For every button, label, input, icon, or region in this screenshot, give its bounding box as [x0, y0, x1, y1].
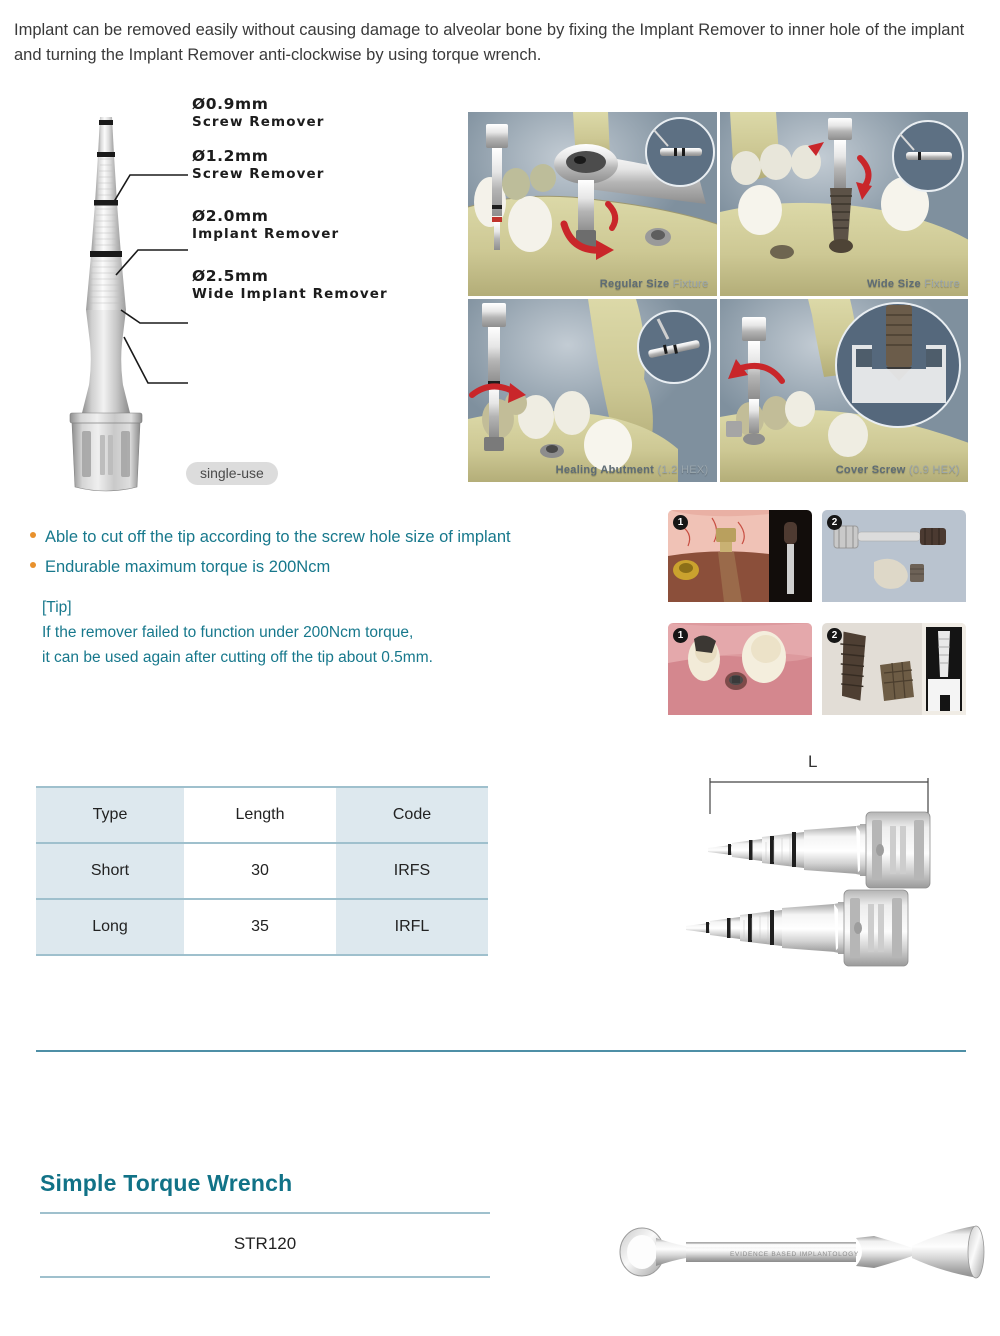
table-header-code: Code [336, 787, 488, 843]
cell-type: Short [36, 843, 184, 899]
table-header-row: Type Length Code [36, 787, 488, 843]
cover-screw-scene [720, 299, 969, 483]
table-header-type: Type [36, 787, 184, 843]
torque-wrench-illustration: EVIDENCE BASED IMPLANTOLOGY [612, 1212, 992, 1292]
regular-fixture-scene [468, 112, 717, 296]
remover-long-view [708, 812, 930, 888]
tip-line-2: it can be used again after cutting off t… [42, 645, 433, 670]
cell-code: IRFS [336, 843, 488, 899]
cell-length: 30 [184, 843, 336, 899]
intro-paragraph: Implant can be removed easily without ca… [14, 18, 974, 68]
callout-0: Ø0.9mm Screw Remover [192, 95, 325, 130]
photo-number-badge: 1 [673, 515, 688, 530]
product-dimension-figure: L [670, 752, 970, 970]
illustration-regular-size-fixture: Regular Size Fixture [468, 112, 717, 296]
tip-block: [Tip] If the remover failed to function … [42, 595, 433, 670]
callout-1: Ø1.2mm Screw Remover [192, 147, 325, 182]
wide-fixture-scene [720, 112, 969, 296]
remover-short-view [686, 890, 908, 966]
wrench-engraving-text: EVIDENCE BASED IMPLANTOLOGY [730, 1251, 859, 1258]
clinical-photo-2: 2 [822, 510, 966, 609]
cell-type: Long [36, 899, 184, 955]
illustration-caption: Wide Size Fixture [867, 278, 960, 290]
cell-code: IRFL [336, 899, 488, 955]
tip-title: [Tip] [42, 595, 433, 620]
implant-remover-diagram: Ø0.9mm Screw Remover Ø1.2mm Screw Remove… [20, 95, 450, 495]
feature-bullet: Able to cut off the tip according to the… [30, 522, 630, 552]
tip-line-1: If the remover failed to function under … [42, 620, 433, 645]
illustration-healing-abutment: Healing Abutment (1.2 HEX) [468, 299, 717, 483]
cell-length: 35 [184, 899, 336, 955]
feature-bullet: Endurable maximum torque is 200Ncm [30, 552, 630, 582]
specification-table: Type Length Code Short 30 IRFS Long 35 I… [36, 786, 488, 956]
illustration-caption: Cover Screw (0.9 HEX) [836, 464, 960, 476]
dimension-label-L: L [808, 752, 817, 772]
callout-3: Ø2.5mm Wide Implant Remover [192, 267, 388, 302]
section-title-torque-wrench: Simple Torque Wrench [40, 1170, 292, 1197]
clinical-photo-1: 1 [668, 510, 812, 609]
photo-extracted-implant [822, 623, 966, 715]
photo-surgical-site [668, 510, 812, 602]
torque-wrench-figure: EVIDENCE BASED IMPLANTOLOGY [612, 1212, 992, 1292]
healing-abutment-scene [468, 299, 717, 483]
photo-removed-parts [822, 510, 966, 602]
feature-bullet-list: Able to cut off the tip according to the… [30, 522, 630, 582]
illustration-cover-screw: Cover Screw (0.9 HEX) [720, 299, 969, 483]
bullet-dot-icon [30, 562, 36, 568]
photo-number-badge: 2 [827, 515, 842, 530]
code-rule-bottom [40, 1276, 490, 1278]
callout-2: Ø2.0mm Implant Remover [192, 207, 339, 242]
table-row: Long 35 IRFL [36, 899, 488, 955]
bullet-dot-icon [30, 532, 36, 538]
remover-side-views [670, 752, 970, 970]
photo-number-badge: 1 [673, 628, 688, 643]
table-header-length: Length [184, 787, 336, 843]
clinical-photo-3: 1 [668, 623, 812, 722]
illustration-wide-size-fixture: Wide Size Fixture [720, 112, 969, 296]
feature-bullet-text: Able to cut off the tip according to the… [45, 522, 511, 552]
photo-number-badge: 2 [827, 628, 842, 643]
table-row: Short 30 IRFS [36, 843, 488, 899]
product-code: STR120 [40, 1234, 490, 1254]
photo-healed-site [668, 623, 812, 715]
feature-bullet-text: Endurable maximum torque is 200Ncm [45, 552, 330, 582]
surgical-illustration-grid: Regular Size Fixture [468, 112, 968, 482]
illustration-caption: Regular Size Fixture [600, 278, 709, 290]
clinical-photo-4: 2 [822, 623, 966, 722]
section-divider [36, 1050, 966, 1052]
single-use-badge: single-use [186, 462, 278, 485]
clinical-photo-grid: 1 2 [668, 510, 966, 722]
code-rule-top [40, 1212, 490, 1214]
illustration-caption: Healing Abutment (1.2 HEX) [556, 464, 709, 476]
